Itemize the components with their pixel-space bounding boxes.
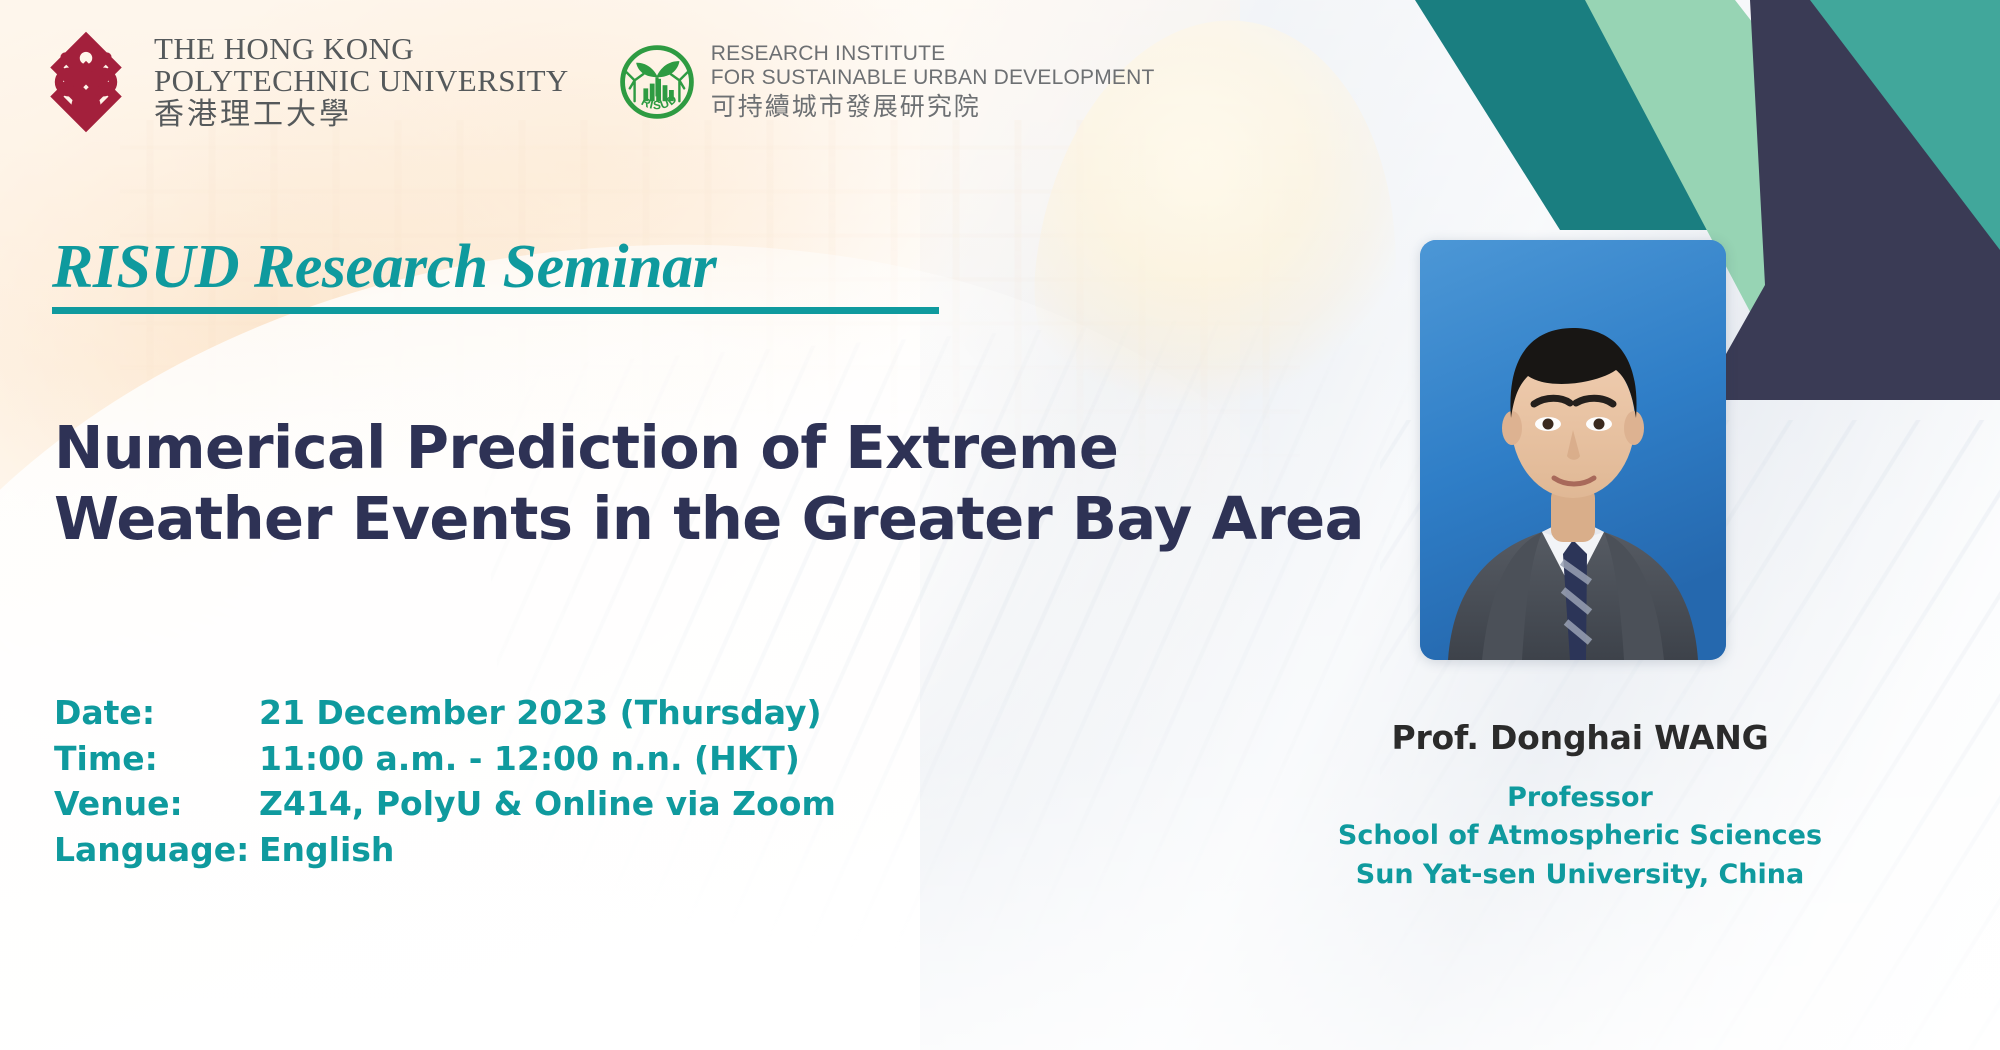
speaker-info: Prof. Donghai WANG Professor School of A…	[1300, 718, 1860, 894]
detail-label-date: Date:	[54, 690, 259, 736]
detail-label-venue: Venue:	[54, 781, 259, 827]
page-title-line1: Numerical Prediction of Extreme	[54, 412, 1134, 484]
speaker-university: Sun Yat-sen University, China	[1300, 856, 1860, 894]
detail-value-venue: Z414, PolyU & Online via Zoom	[259, 781, 836, 827]
polyu-knot-icon	[34, 30, 138, 134]
event-details: Date: 21 December 2023 (Thursday) Time: …	[54, 690, 836, 872]
risud-name-chinese: 可持續城市發展研究院	[711, 93, 1155, 122]
polyu-logo: THE HONG KONG POLYTECHNIC UNIVERSITY 香港理…	[34, 30, 569, 134]
risud-wordmark: RESEARCH INSTITUTE FOR SUSTAINABLE URBAN…	[711, 42, 1155, 121]
risud-name-line2: FOR SUSTAINABLE URBAN DEVELOPMENT	[711, 66, 1155, 90]
event-details-table: Date: 21 December 2023 (Thursday) Time: …	[54, 690, 836, 872]
polyu-name-line1: THE HONG KONG	[154, 33, 569, 65]
speaker-school: School of Atmospheric Sciences	[1300, 817, 1860, 855]
detail-row-time: Time: 11:00 a.m. - 12:00 n.n. (HKT)	[54, 736, 836, 782]
detail-row-venue: Venue: Z414, PolyU & Online via Zoom	[54, 781, 836, 827]
page-title-line2: Weather Events in the Greater Bay Area	[54, 483, 1134, 555]
detail-label-language: Language:	[54, 827, 259, 873]
detail-value-time: 11:00 a.m. - 12:00 n.n. (HKT)	[259, 736, 836, 782]
polyu-name-line2: POLYTECHNIC UNIVERSITY	[154, 65, 569, 97]
speaker-name: Prof. Donghai WANG	[1300, 718, 1860, 757]
page-title: Numerical Prediction of Extreme Weather …	[54, 412, 1134, 556]
detail-value-language: English	[259, 827, 836, 873]
detail-label-time: Time:	[54, 736, 259, 782]
risud-logo: RISUD RESEARCH INSTITUTE FOR SUSTAINABLE…	[617, 42, 1155, 122]
seminar-poster: THE HONG KONG POLYTECHNIC UNIVERSITY 香港理…	[0, 0, 2000, 1050]
header-logos: THE HONG KONG POLYTECHNIC UNIVERSITY 香港理…	[34, 30, 1155, 134]
polyu-wordmark: THE HONG KONG POLYTECHNIC UNIVERSITY 香港理…	[154, 33, 569, 131]
detail-row-date: Date: 21 December 2023 (Thursday)	[54, 690, 836, 736]
seminar-kicker: RISUD Research Seminar	[52, 232, 716, 303]
risud-name-line1: RESEARCH INSTITUTE	[711, 42, 1155, 66]
detail-value-date: 21 December 2023 (Thursday)	[259, 690, 836, 736]
speaker-title: Professor	[1300, 779, 1860, 817]
polyu-name-chinese: 香港理工大學	[154, 100, 569, 131]
speaker-affiliation: Professor School of Atmospheric Sciences…	[1300, 779, 1860, 894]
speaker-portrait	[1420, 240, 1726, 660]
kicker-underline	[52, 307, 939, 314]
risud-circle-icon: RISUD	[617, 42, 697, 122]
detail-row-language: Language: English	[54, 827, 836, 873]
